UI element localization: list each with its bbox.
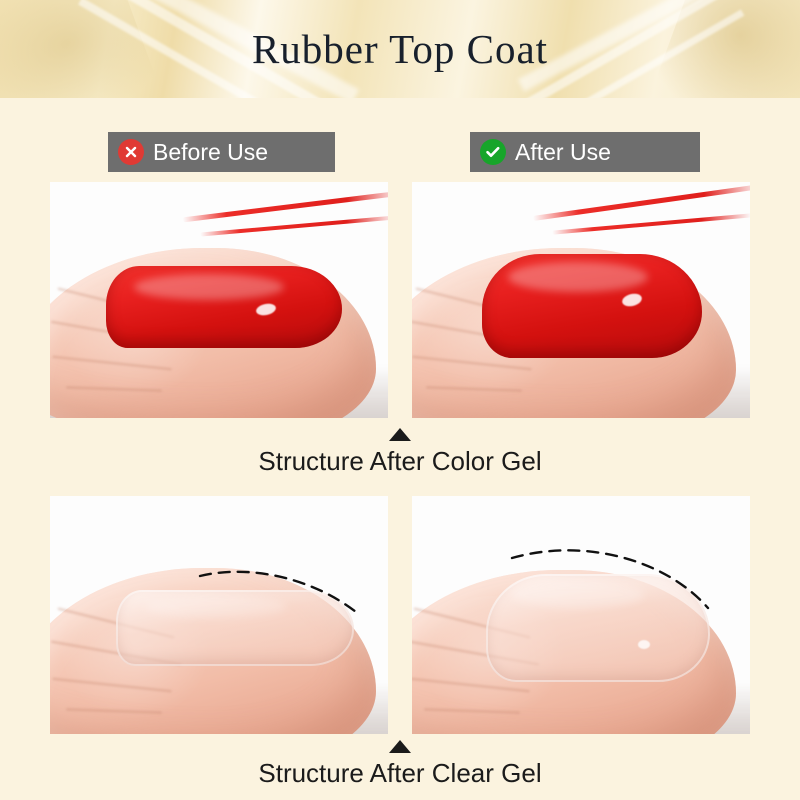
product-infographic: Rubber Top Coat Before Use After Use <box>0 0 800 800</box>
photo-after-clear-gel <box>412 496 750 734</box>
check-icon <box>480 139 506 165</box>
caption-clear-gel: Structure After Clear Gel <box>0 758 800 789</box>
content-area: Before Use After Use <box>0 98 800 800</box>
label-before-use-text: Before Use <box>153 141 268 164</box>
header-banner: Rubber Top Coat <box>0 0 800 98</box>
label-before-use: Before Use <box>108 132 335 172</box>
photo-before-color-gel <box>50 182 388 418</box>
arrow-up-bottom <box>389 740 411 753</box>
photo-after-color-gel <box>412 182 750 418</box>
photo-before-clear-gel <box>50 496 388 734</box>
label-after-use: After Use <box>470 132 700 172</box>
label-after-use-text: After Use <box>515 141 611 164</box>
cross-icon <box>118 139 144 165</box>
page-title: Rubber Top Coat <box>0 0 800 98</box>
caption-color-gel: Structure After Color Gel <box>0 446 800 477</box>
arrow-up-top <box>389 428 411 441</box>
